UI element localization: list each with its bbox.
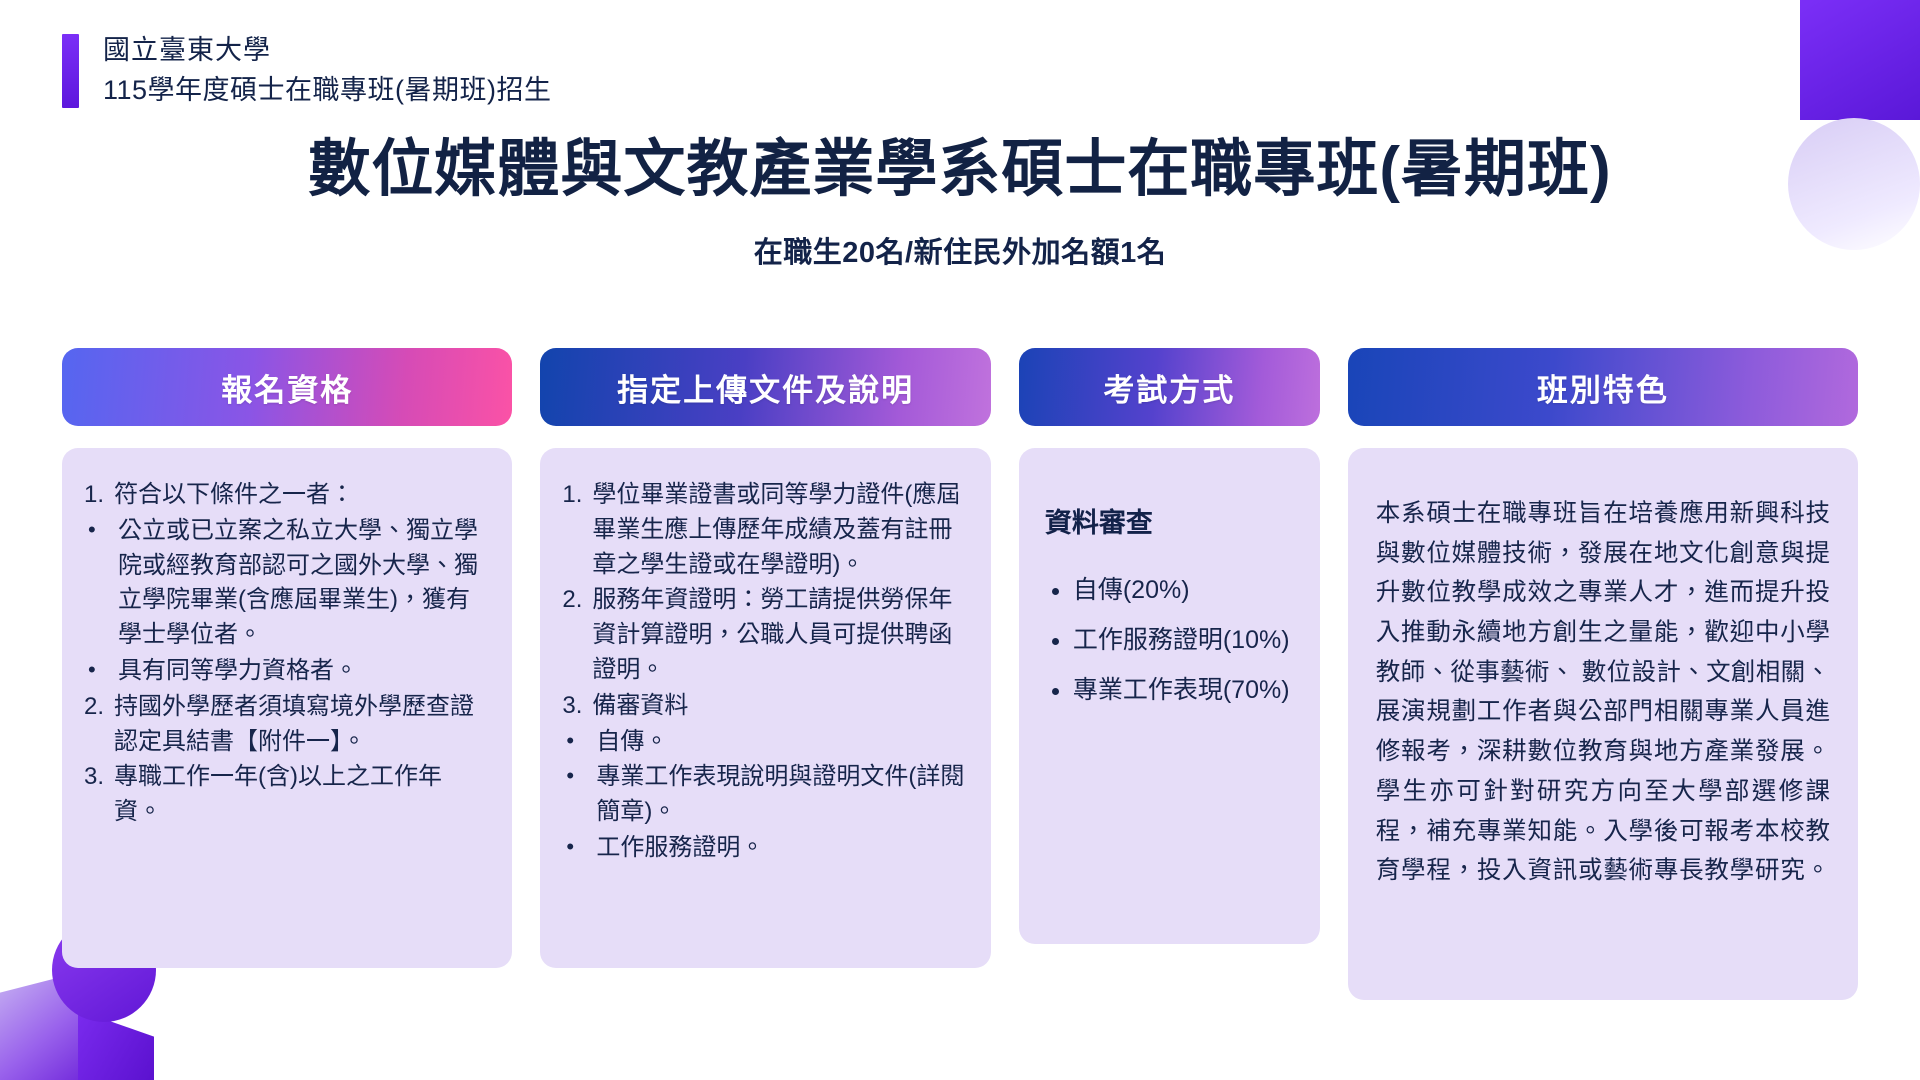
list-marker: 2. [562, 583, 592, 618]
list-item: • 工作服務證明。 [562, 831, 964, 866]
list-marker: • [84, 514, 118, 546]
exam-criteria-list: 自傳(20%) 工作服務證明(10%) 專業工作表現(70%) [1041, 569, 1294, 712]
list-item: 3. 專職工作一年(含)以上之工作年資。 [84, 760, 486, 830]
list-item: 自傳(20%) [1073, 569, 1294, 613]
list-item: 專業工作表現(70%) [1073, 669, 1294, 713]
list-item: 工作服務證明(10%) [1073, 619, 1294, 663]
list-text: 具有同等學力資格者。 [118, 654, 486, 689]
accent-bar [62, 34, 79, 108]
program-features-paragraph: 本系碩士在職專班旨在培養應用新興科技與數位媒體技術，發展在地文化創意與提升數位教… [1376, 494, 1830, 891]
card-body-program-features: 本系碩士在職專班旨在培養應用新興科技與數位媒體技術，發展在地文化創意與提升數位教… [1348, 448, 1858, 1000]
list-text: 工作服務證明。 [596, 831, 964, 866]
university-name: 國立臺東大學 [103, 34, 552, 68]
list-marker: 1. [562, 478, 592, 513]
list-marker: 3. [84, 760, 114, 795]
list-item: 1. 學位畢業證書或同等學力證件(應屆畢業生應上傳歷年成績及蓋有註冊章之學生證或… [562, 478, 964, 582]
card-body-required-documents: 1. 學位畢業證書或同等學力證件(應屆畢業生應上傳歷年成績及蓋有註冊章之學生證或… [540, 448, 990, 968]
list-marker: • [562, 831, 596, 863]
card-exam-method: 考試方式 資料審查 自傳(20%) 工作服務證明(10%) 專業工作表現(70%… [1019, 348, 1320, 944]
card-program-features: 班別特色 本系碩士在職專班旨在培養應用新興科技與數位媒體技術，發展在地文化創意與… [1348, 348, 1858, 1000]
card-header-exam-method: 考試方式 [1019, 348, 1320, 426]
card-header-program-features: 班別特色 [1348, 348, 1858, 426]
card-application-eligibility: 報名資格 1. 符合以下條件之一者： • 公立或已立案之私立大學、獨立學院或經教… [62, 348, 512, 968]
list-marker: 2. [84, 690, 114, 725]
list-marker: • [562, 760, 596, 792]
card-body-exam-method: 資料審查 自傳(20%) 工作服務證明(10%) 專業工作表現(70%) [1019, 448, 1320, 944]
decor-bottom-left-shard [78, 1010, 154, 1080]
organization-lines: 國立臺東大學 115學年度碩士在職專班(暑期班)招生 [103, 34, 552, 108]
card-required-documents: 指定上傳文件及說明 1. 學位畢業證書或同等學力證件(應屆畢業生應上傳歷年成績及… [540, 348, 990, 968]
program-subtitle: 115學年度碩士在職專班(暑期班)招生 [103, 74, 552, 108]
eligibility-list: 1. 符合以下條件之一者： • 公立或已立案之私立大學、獨立學院或經教育部認可之… [84, 478, 486, 830]
list-marker: • [84, 654, 118, 686]
list-item: 2. 持國外學歷者須填寫境外學歷查證認定具結書【附件一】。 [84, 690, 486, 760]
list-marker: 1. [84, 478, 114, 513]
card-header-application-eligibility: 報名資格 [62, 348, 512, 426]
list-text: 自傳。 [596, 725, 964, 760]
list-item: 3. 備審資料 [562, 689, 964, 724]
card-body-application-eligibility: 1. 符合以下條件之一者： • 公立或已立案之私立大學、獨立學院或經教育部認可之… [62, 448, 512, 968]
list-text: 專業工作表現說明與證明文件(詳閱簡章)。 [596, 760, 964, 830]
list-item: • 自傳。 [562, 725, 964, 760]
list-item: • 專業工作表現說明與證明文件(詳閱簡章)。 [562, 760, 964, 830]
page-header: 國立臺東大學 115學年度碩士在職專班(暑期班)招生 數位媒體與文教產業學系碩士… [0, 0, 1920, 271]
exam-section-title: 資料審查 [1045, 504, 1294, 543]
list-marker: 3. [562, 689, 592, 724]
list-marker: • [562, 725, 596, 757]
list-item: 1. 符合以下條件之一者： [84, 478, 486, 513]
quota-subtitle: 在職生20名/新住民外加名額1名 [0, 229, 1920, 271]
list-text: 公立或已立案之私立大學、獨立學院或經教育部認可之國外大學、獨立學院畢業(含應屆畢… [118, 514, 486, 653]
list-item: • 公立或已立案之私立大學、獨立學院或經教育部認可之國外大學、獨立學院畢業(含應… [84, 514, 486, 653]
list-item: 2. 服務年資證明：勞工請提供勞保年資計算證明，公職人員可提供聘函證明。 [562, 583, 964, 687]
cards-row: 報名資格 1. 符合以下條件之一者： • 公立或已立案之私立大學、獨立學院或經教… [62, 348, 1858, 1000]
documents-list: 1. 學位畢業證書或同等學力證件(應屆畢業生應上傳歷年成績及蓋有註冊章之學生證或… [562, 478, 964, 866]
list-text: 服務年資證明：勞工請提供勞保年資計算證明，公職人員可提供聘函證明。 [592, 583, 964, 687]
list-text: 持國外學歷者須填寫境外學歷查證認定具結書【附件一】。 [114, 690, 486, 760]
list-text: 專職工作一年(含)以上之工作年資。 [114, 760, 486, 830]
list-text: 學位畢業證書或同等學力證件(應屆畢業生應上傳歷年成績及蓋有註冊章之學生證或在學證… [592, 478, 964, 582]
list-text: 備審資料 [592, 689, 964, 724]
page-title: 數位媒體與文教產業學系碩士在職專班(暑期班) [0, 134, 1920, 205]
list-item: • 具有同等學力資格者。 [84, 654, 486, 689]
list-text: 符合以下條件之一者： [114, 478, 486, 513]
card-header-required-documents: 指定上傳文件及說明 [540, 348, 990, 426]
organization-block: 國立臺東大學 115學年度碩士在職專班(暑期班)招生 [62, 34, 1920, 108]
